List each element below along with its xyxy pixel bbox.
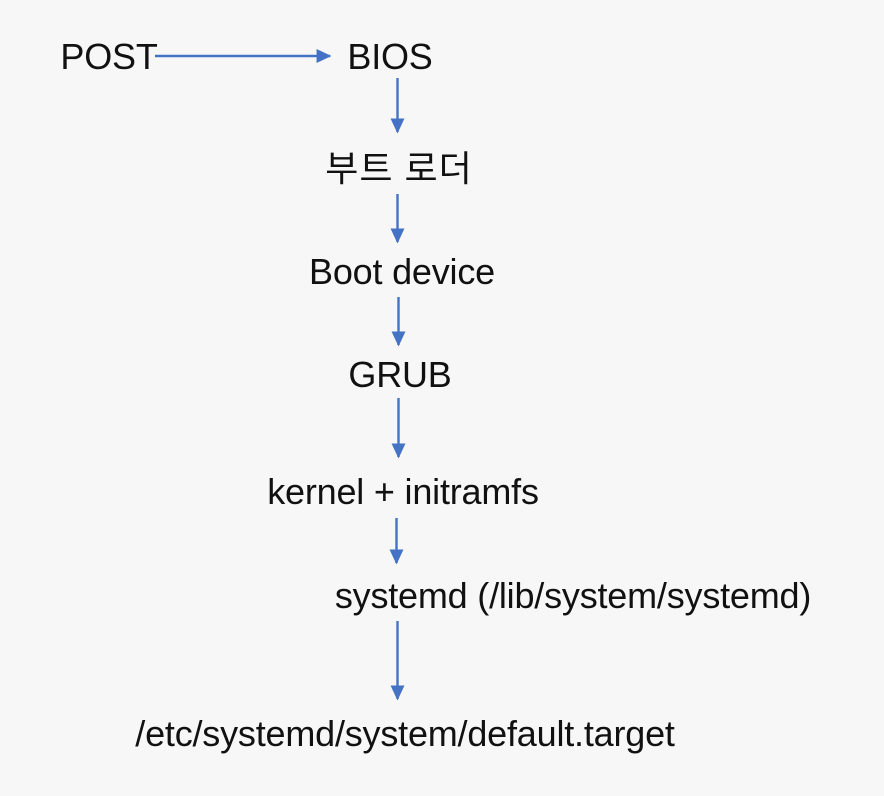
boot-process-flowchart: POST BIOS 부트 로더 Boot device GRUB kernel …	[0, 0, 884, 796]
edge-post-to-bios	[150, 44, 345, 70]
edge-bootloader-to-bootdevice	[384, 190, 412, 258]
node-boot-device: Boot device	[309, 250, 495, 294]
edge-systemd-to-target	[384, 617, 412, 715]
node-grub: GRUB	[348, 353, 451, 397]
edge-bios-to-bootloader	[384, 74, 412, 148]
node-kernel-initramfs: kernel + initramfs	[267, 470, 539, 514]
node-bootloader: 부트 로더	[325, 147, 472, 191]
edge-bootdevice-to-grub	[385, 293, 413, 361]
node-post: POST	[60, 35, 157, 79]
node-systemd: systemd (/lib/system/systemd)	[335, 574, 811, 618]
node-default-target: /etc/systemd/system/default.target	[135, 712, 674, 756]
edge-kernel-to-systemd	[383, 514, 411, 580]
edge-grub-to-kernel	[385, 394, 413, 474]
node-bios: BIOS	[347, 35, 432, 79]
